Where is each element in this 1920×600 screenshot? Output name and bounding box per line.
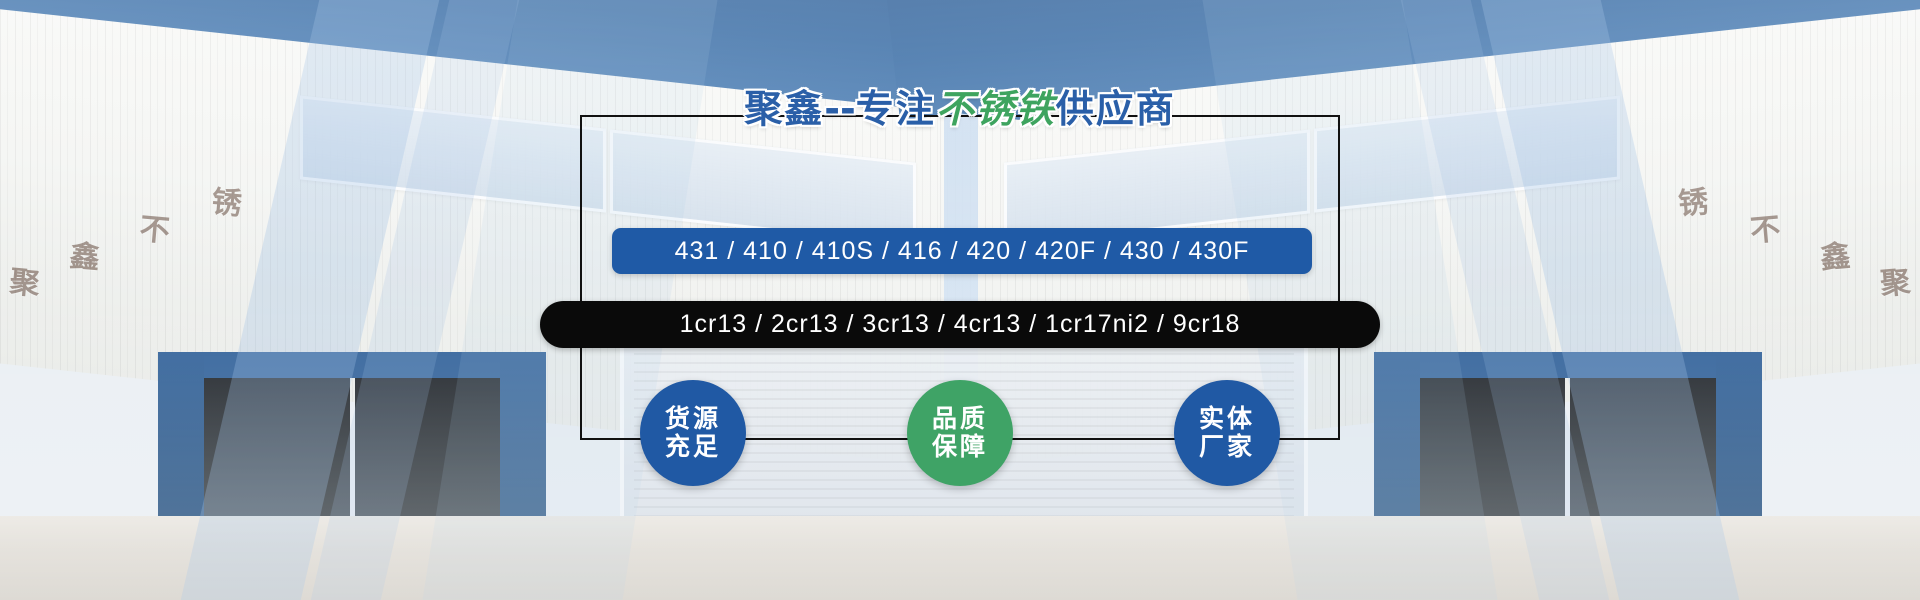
badge-factory-line1: 实体 [1199, 405, 1255, 433]
badge-factory-line2: 厂家 [1199, 433, 1255, 461]
badge-supply: 货源 充足 [640, 380, 746, 486]
grade-bar-black: 1cr13 / 2cr13 / 3cr13 / 4cr13 / 1cr17ni2… [540, 301, 1380, 348]
promo-banner: 锈 不 鑫 聚 锈 不 鑫 聚 聚鑫--专注不锈铁供应商 [0, 0, 1920, 600]
badge-factory: 实体 厂家 [1174, 380, 1280, 486]
headline-part-3: 供应商 [1056, 87, 1176, 131]
badge-group: 货源 充足 品质 保障 实体 厂家 [640, 378, 1280, 488]
grade-bar-blue: 431 / 410 / 410S / 416 / 420 / 420F / 43… [612, 228, 1312, 274]
badge-supply-line1: 货源 [665, 405, 721, 433]
page-title: 聚鑫--专注不锈铁供应商 [0, 78, 1920, 133]
grade-bar-black-text: 1cr13 / 2cr13 / 3cr13 / 4cr13 / 1cr17ni2… [680, 310, 1241, 339]
headline-dash: -- [824, 87, 856, 131]
grade-bar-blue-text: 431 / 410 / 410S / 416 / 420 / 420F / 43… [675, 237, 1250, 266]
headline-highlight: 不锈铁 [936, 87, 1056, 131]
headline-part-2: 专注 [856, 87, 936, 131]
badge-quality: 品质 保障 [907, 380, 1013, 486]
badge-quality-line1: 品质 [932, 405, 988, 433]
headline-part-1: 聚鑫 [744, 87, 824, 131]
banner-content: 聚鑫--专注不锈铁供应商 431 / 410 / 410S / 416 / 42… [0, 0, 1920, 600]
badge-supply-line2: 充足 [665, 433, 721, 461]
badge-quality-line2: 保障 [932, 433, 988, 461]
